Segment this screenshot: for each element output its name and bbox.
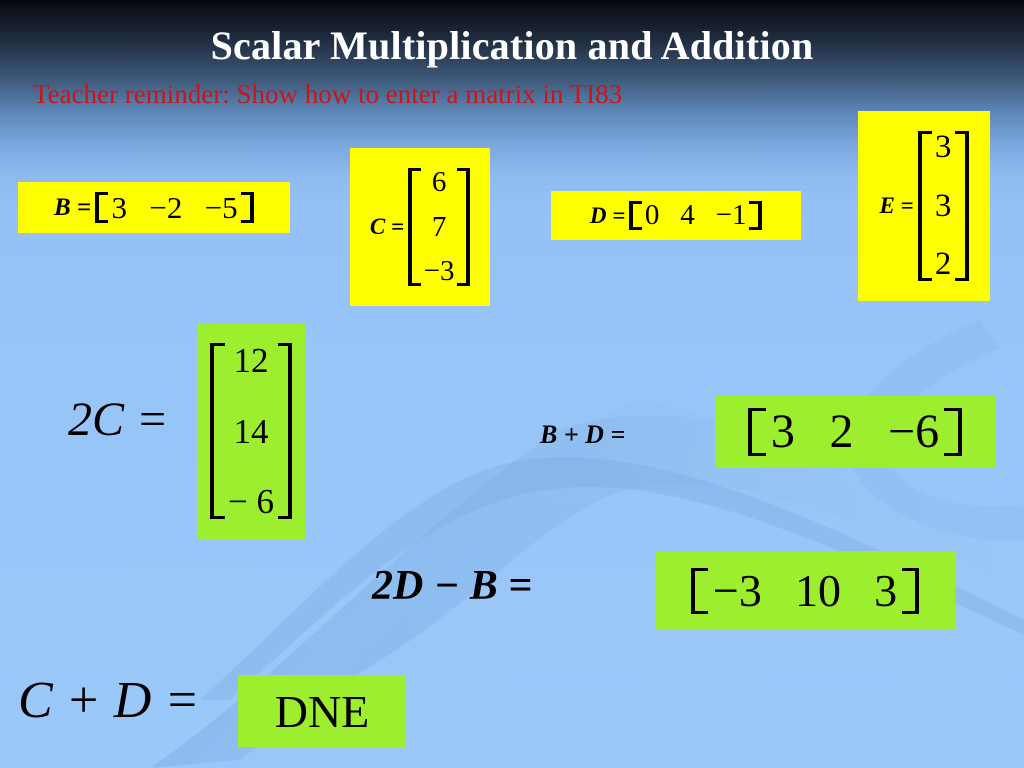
matrix-cell: 14 [234,414,269,449]
matrix-E-values: 3 3 2 [918,131,969,281]
matrix-cell: 0 [645,201,660,230]
result-2C-values: 12 14 − 6 [210,343,292,519]
result-B-plus-D-box: 3 2 −6 [715,396,995,468]
bracket-left-icon [691,568,709,614]
bracket-right-icon [955,131,969,281]
matrix-cell: − 6 [228,484,274,519]
matrix-B-box: B = 3 −2 −5 [18,182,290,233]
matrix-cell: −3 [713,568,762,614]
matrix-cell: 7 [432,213,447,242]
bracket-left-icon [95,192,108,223]
result-2D-minus-B-values: −3 10 3 [691,568,920,614]
matrix-cell: 3 [771,408,795,456]
matrix-cell: 4 [680,201,695,230]
page-title: Scalar Multiplication and Addition [0,22,1024,69]
matrix-cell: −5 [205,192,238,223]
matrix-cell: −6 [888,408,939,456]
matrix-cell: 10 [795,568,841,614]
matrix-cell: 3 [112,192,128,223]
result-2C-box: 12 14 − 6 [197,323,305,539]
bracket-left-icon [748,408,766,456]
matrix-B-values: 3 −2 −5 [95,192,254,223]
matrix-cell: 2 [935,248,952,281]
bracket-right-icon [457,168,470,286]
matrix-D-label: D = [590,203,625,229]
matrix-B-label: B = [54,194,91,222]
result-C-plus-D-value: DNE [275,685,370,738]
result-2C-label: 2C = [68,392,168,447]
matrix-cell: −1 [716,201,747,230]
bracket-right-icon [241,192,254,223]
matrix-D-box: D = 0 4 −1 [551,191,801,240]
matrix-cell: 3 [874,568,897,614]
bracket-right-icon [749,201,762,230]
result-C-plus-D-label: C + D = [18,671,199,730]
matrix-D-values: 0 4 −1 [629,201,762,230]
bracket-left-icon [918,131,932,281]
matrix-E-label: E = [879,193,913,219]
bracket-right-icon [278,343,293,519]
result-C-plus-D-box: DNE [238,675,406,747]
matrix-cell: 3 [935,131,952,164]
bracket-right-icon [944,408,962,456]
matrix-cell: −2 [149,192,182,223]
matrix-cell: 2 [829,408,853,456]
slide-canvas: Scalar Multiplication and Addition Teach… [0,0,1024,768]
matrix-C-box: C = 6 7 −3 [350,148,490,306]
result-B-plus-D-label: B + D = [540,420,625,450]
result-B-plus-D-values: 3 2 −6 [748,408,963,456]
bracket-left-icon [629,201,642,230]
matrix-cell: 6 [432,168,447,197]
bracket-right-icon [902,568,920,614]
bracket-left-icon [210,343,225,519]
matrix-cell: 3 [935,190,952,223]
matrix-E-box: E = 3 3 2 [858,111,990,301]
matrix-C-values: 6 7 −3 [408,168,470,286]
bracket-left-icon [408,168,421,286]
result-2D-minus-B-box: −3 10 3 [655,551,955,630]
matrix-C-label: C = [370,214,404,240]
matrix-cell: −3 [424,257,455,286]
result-2D-minus-B-label: 2D − B = [372,562,532,610]
matrix-cell: 12 [234,343,269,378]
teacher-reminder-note: Teacher reminder: Show how to enter a ma… [33,79,622,110]
